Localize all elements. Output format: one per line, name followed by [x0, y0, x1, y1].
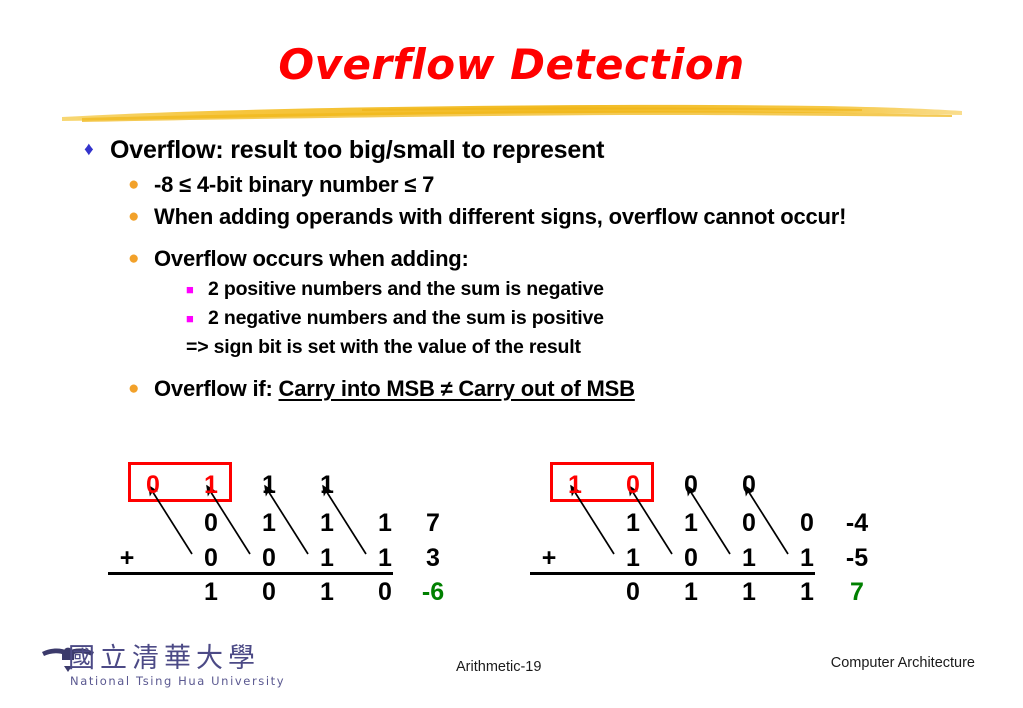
circle-bullet-icon: ●	[128, 201, 154, 232]
right-operand2-digit-1: 0	[678, 545, 704, 571]
right-operand1-digit-3: 0	[794, 510, 820, 536]
square-bullet-icon: ■	[186, 304, 208, 333]
bullet-level1-label: Overflow: result too big/small to repres…	[110, 133, 604, 167]
left-carry-digit-2: 1	[256, 472, 282, 498]
right-example: 1 0 0 0 1 1 0 0 -4 + 1 0 1 1 -5 0 1 1 1 …	[522, 460, 942, 610]
left-example: 0 1 1 1 0 1 1 1 7 + 0 0 1 1 3 1 0 1 0 -6	[100, 460, 520, 610]
bullet-level3-positive-label: 2 positive numbers and the sum is negati…	[208, 275, 604, 304]
bullet-level3-negative: ■ 2 negative numbers and the sum is posi…	[186, 304, 1023, 333]
right-sum-digit-3: 1	[794, 579, 820, 605]
brush-stroke-underline	[62, 100, 962, 126]
left-carry-digit-0: 0	[140, 472, 166, 498]
right-sum-digit-0: 0	[620, 579, 646, 605]
right-operand1-digit-1: 1	[678, 510, 704, 536]
circle-bullet-icon: ●	[128, 373, 154, 404]
right-operand1-digit-0: 1	[620, 510, 646, 536]
bullet-content: ♦ Overflow: result too big/small to repr…	[0, 133, 1023, 405]
right-sum-digit-1: 1	[678, 579, 704, 605]
bullet-level2-different-signs-label: When adding operands with different sign…	[154, 201, 846, 232]
right-carry-digit-2: 0	[678, 472, 704, 498]
right-plus-sign: +	[538, 545, 560, 571]
bullet-level2-range: ● -8 ≤ 4-bit binary number ≤ 7	[128, 169, 1023, 200]
right-sum-rule	[530, 572, 815, 575]
right-operand1-value: -4	[834, 510, 880, 536]
bullet-level2-overflow-if-label: Overflow if: Carry into MSB ≠ Carry out …	[154, 373, 635, 404]
circle-bullet-icon: ●	[128, 169, 154, 200]
left-operand2-value: 3	[410, 545, 456, 571]
left-operand1-digit-1: 1	[256, 510, 282, 536]
left-operand1-value: 7	[410, 510, 456, 536]
left-operand1-digit-2: 1	[314, 510, 340, 536]
left-sum-digit-0: 1	[198, 579, 224, 605]
footer-course-label: Computer Architecture	[831, 655, 975, 671]
right-carry-digit-0: 1	[562, 472, 588, 498]
left-operand2-digit-2: 1	[314, 545, 340, 571]
diamond-bullet-icon: ♦	[84, 133, 110, 167]
bullet-level3-signbit-note: => sign bit is set with the value of the…	[186, 333, 1023, 362]
page-title: Overflow Detection	[0, 40, 1023, 89]
left-carry-digit-1: 1	[198, 472, 224, 498]
bullet-level3-signbit-label: => sign bit is set with the value of the…	[186, 333, 581, 362]
square-bullet-icon: ■	[186, 275, 208, 304]
circle-bullet-icon: ●	[128, 243, 154, 274]
left-plus-sign: +	[116, 545, 138, 571]
overflow-if-condition: Carry into MSB ≠ Carry out of MSB	[279, 376, 635, 401]
left-sum-digit-3: 0	[372, 579, 398, 605]
footer-slide-label: Arithmetic-19	[456, 659, 541, 675]
overflow-if-prefix: Overflow if:	[154, 376, 279, 401]
left-operand2-digit-1: 0	[256, 545, 282, 571]
left-sum-value: -6	[410, 579, 456, 605]
left-operand1-digit-0: 0	[198, 510, 224, 536]
bullet-level2-occurs-when-label: Overflow occurs when adding:	[154, 243, 469, 274]
bullet-level2-range-label: -8 ≤ 4-bit binary number ≤ 7	[154, 169, 434, 200]
right-operand2-digit-0: 1	[620, 545, 646, 571]
right-operand1-digit-2: 0	[736, 510, 762, 536]
left-operand2-digit-0: 0	[198, 545, 224, 571]
left-carry-digit-3: 1	[314, 472, 340, 498]
bullet-level2-overflow-if: ● Overflow if: Carry into MSB ≠ Carry ou…	[128, 373, 1023, 404]
right-sum-value: 7	[834, 579, 880, 605]
bullet-level3-negative-label: 2 negative numbers and the sum is positi…	[208, 304, 604, 333]
left-operand1-digit-3: 1	[372, 510, 398, 536]
bullet-level3-positive: ■ 2 positive numbers and the sum is nega…	[186, 275, 1023, 304]
left-sum-digit-2: 1	[314, 579, 340, 605]
right-operand2-value: -5	[834, 545, 880, 571]
right-carry-digit-1: 0	[620, 472, 646, 498]
left-operand2-digit-3: 1	[372, 545, 398, 571]
right-operand2-digit-3: 1	[794, 545, 820, 571]
bullet-level2-occurs-when: ● Overflow occurs when adding:	[128, 243, 1023, 274]
right-carry-digit-3: 0	[736, 472, 762, 498]
left-sum-rule	[108, 572, 393, 575]
right-operand2-digit-2: 1	[736, 545, 762, 571]
right-sum-digit-2: 1	[736, 579, 762, 605]
bullet-level2-different-signs: ● When adding operands with different si…	[128, 201, 1023, 232]
university-logo-english: National Tsing Hua University	[70, 674, 285, 688]
university-logo-chinese: 國立清華大學	[68, 636, 260, 675]
left-sum-digit-1: 0	[256, 579, 282, 605]
bullet-level1-overflow: ♦ Overflow: result too big/small to repr…	[84, 133, 1023, 167]
